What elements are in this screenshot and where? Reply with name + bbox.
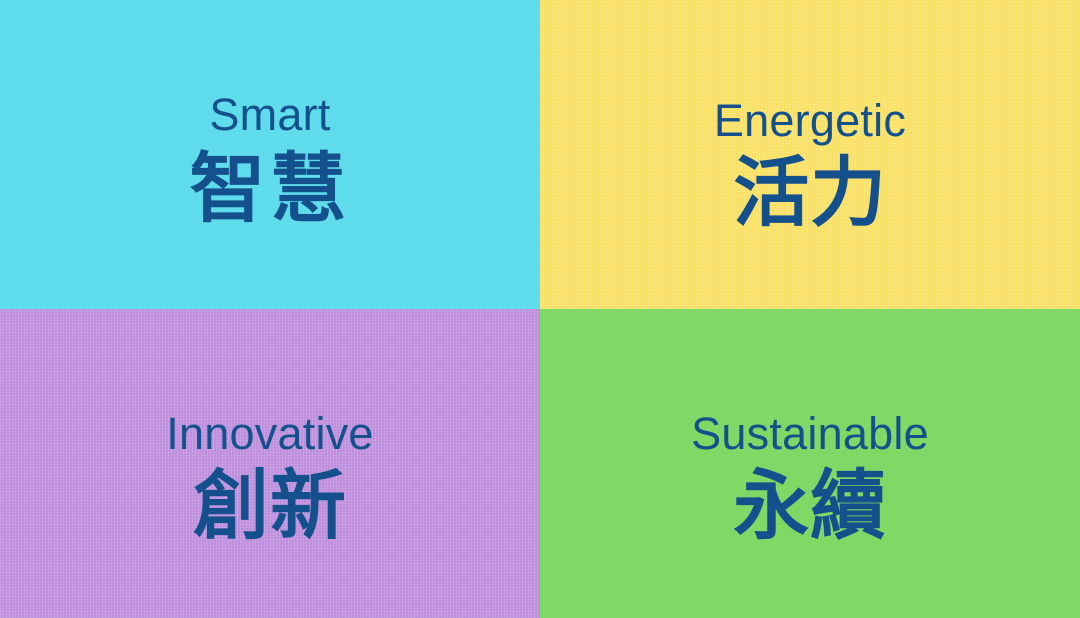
label-stack-smart: Smart 智慧: [0, 92, 540, 227]
label-en-innovative: Innovative: [0, 411, 540, 456]
label-zh-smart: 智慧: [0, 151, 540, 227]
label-stack-sustainable: Sustainable 永續: [540, 411, 1080, 544]
quadrant-smart[interactable]: Smart 智慧: [0, 0, 540, 309]
label-stack-energetic: Energetic 活力: [540, 98, 1080, 231]
label-en-sustainable: Sustainable: [540, 411, 1080, 456]
label-stack-innovative: Innovative 創新: [0, 411, 540, 544]
label-en-energetic: Energetic: [540, 98, 1080, 143]
label-zh-energetic: 活力: [540, 155, 1080, 231]
label-zh-innovative: 創新: [0, 468, 540, 544]
quadrant-sustainable[interactable]: Sustainable 永續: [540, 309, 1080, 618]
quadrant-innovative[interactable]: Innovative 創新: [0, 309, 540, 618]
brand-values-poster: Smart 智慧 Energetic 活力 Innovative 創新 Sust…: [0, 0, 1080, 618]
label-en-smart: Smart: [0, 92, 540, 137]
label-zh-sustainable: 永續: [540, 468, 1080, 544]
quadrant-energetic[interactable]: Energetic 活力: [540, 0, 1080, 309]
